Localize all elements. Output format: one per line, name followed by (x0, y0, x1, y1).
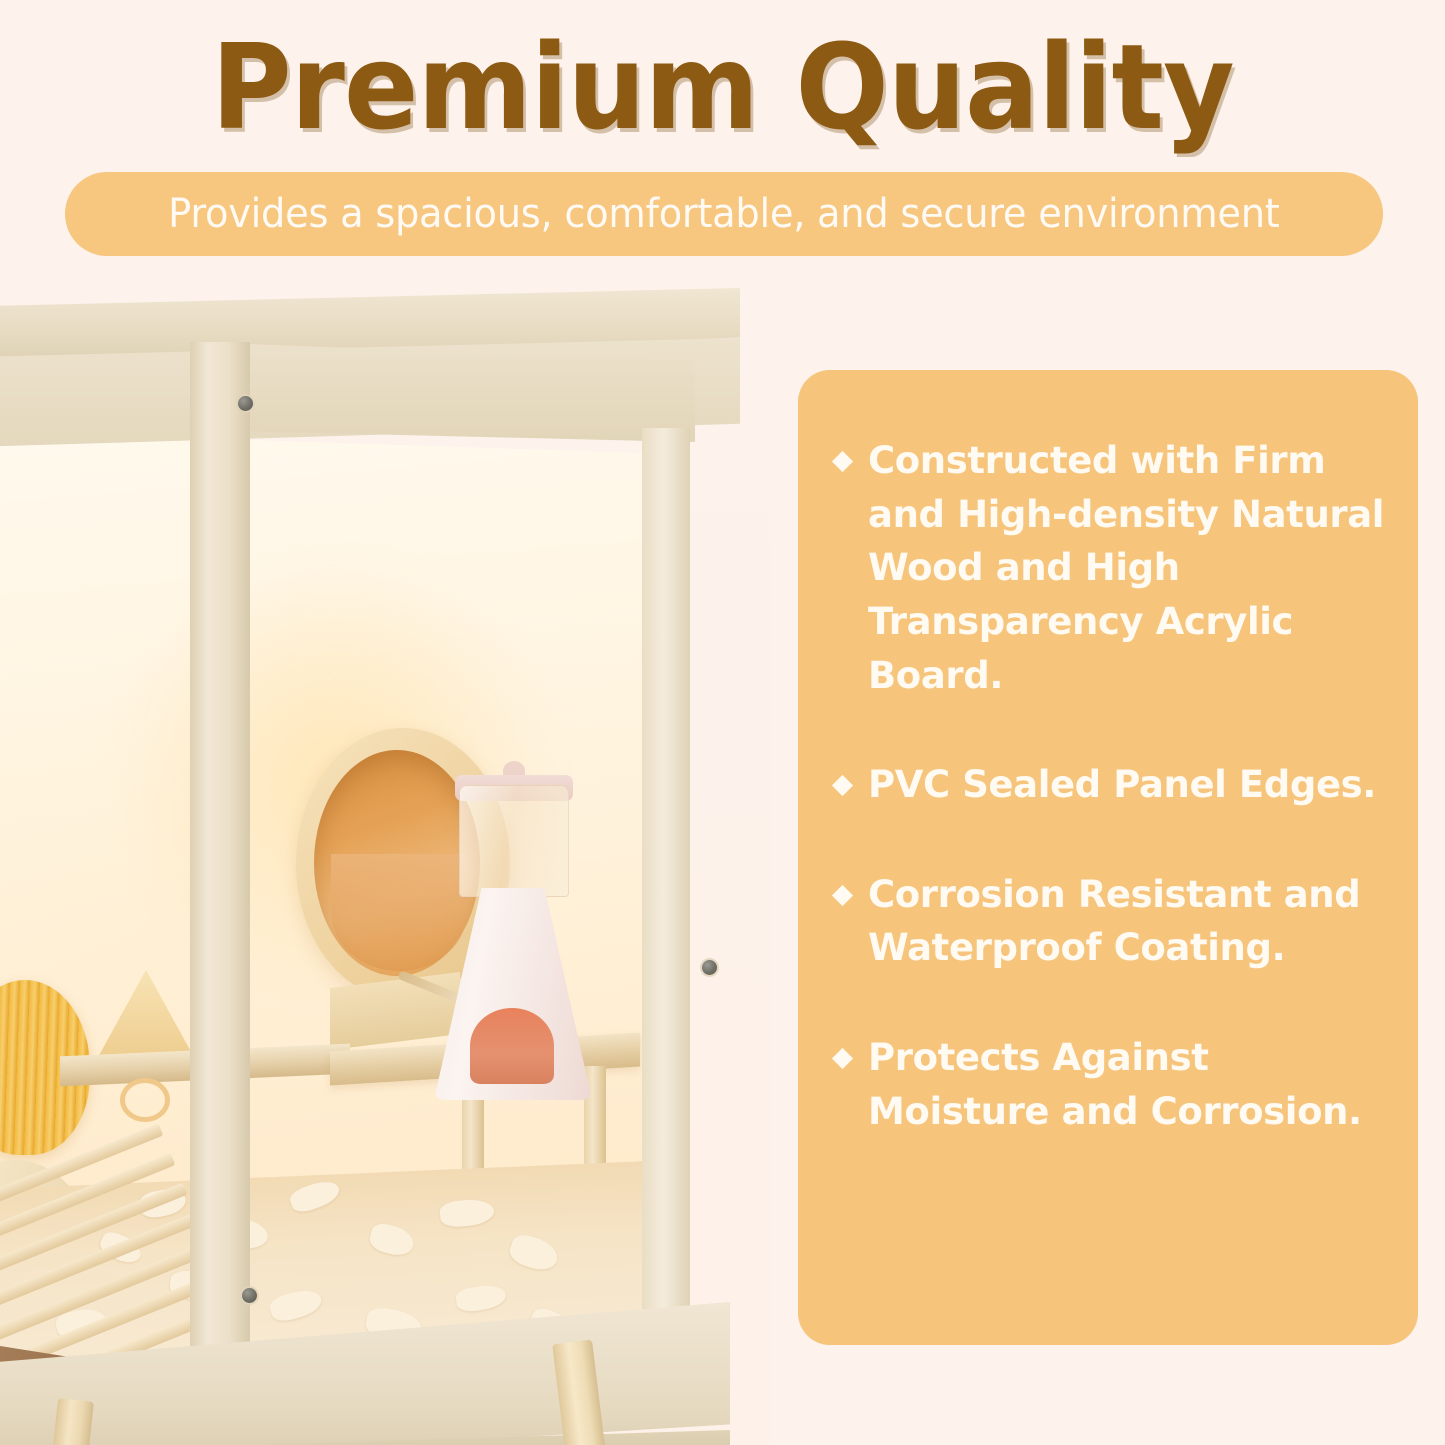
feature-bullet: Corrosion Resistant and Waterproof Coati… (835, 868, 1400, 975)
bedding-flake (367, 1221, 417, 1259)
diamond-bullet-icon (832, 885, 853, 906)
feature-panel: Constructed with Firm and High-density N… (798, 370, 1418, 1345)
feature-bullet-text: Constructed with Firm and High-density N… (868, 434, 1400, 702)
page-title: Premium Quality (51, 28, 1395, 146)
screw-icon (242, 1288, 257, 1303)
feature-bullet: PVC Sealed Panel Edges. (835, 758, 1400, 812)
screw-icon (702, 960, 717, 975)
feature-bullet-text: PVC Sealed Panel Edges. (868, 758, 1400, 812)
subtitle-text: Provides a spacious, comfortable, and se… (168, 191, 1279, 237)
bedding-flake (287, 1176, 342, 1216)
bottle-opening (470, 1008, 554, 1084)
cage-side-post (642, 428, 690, 1348)
product-photo (0, 280, 770, 1445)
bottle-reservoir (459, 785, 569, 897)
feature-bullet-text: Protects Against Moisture and Corrosion. (868, 1031, 1400, 1138)
feature-bullet-text: Corrosion Resistant and Waterproof Coati… (868, 868, 1400, 975)
diamond-bullet-icon (832, 451, 853, 472)
bedding-flake (507, 1231, 562, 1274)
feature-bullet: Protects Against Moisture and Corrosion. (835, 1031, 1400, 1138)
feature-bullet-list: Constructed with Firm and High-density N… (835, 434, 1400, 1138)
bedding-flake (454, 1282, 507, 1314)
bedding-flake (439, 1197, 495, 1229)
diamond-bullet-icon (832, 775, 853, 796)
hanging-ring (120, 1078, 170, 1122)
wheel-shadow (331, 854, 467, 972)
bedding-flake (267, 1285, 324, 1324)
diamond-bullet-icon (832, 1048, 853, 1069)
cage-front-post (190, 342, 250, 1372)
promo-page: Premium Quality Provides a spacious, com… (0, 0, 1445, 1445)
subtitle-banner: Provides a spacious, comfortable, and se… (65, 172, 1383, 256)
feature-bullet: Constructed with Firm and High-density N… (835, 434, 1400, 702)
screw-icon (238, 396, 253, 411)
